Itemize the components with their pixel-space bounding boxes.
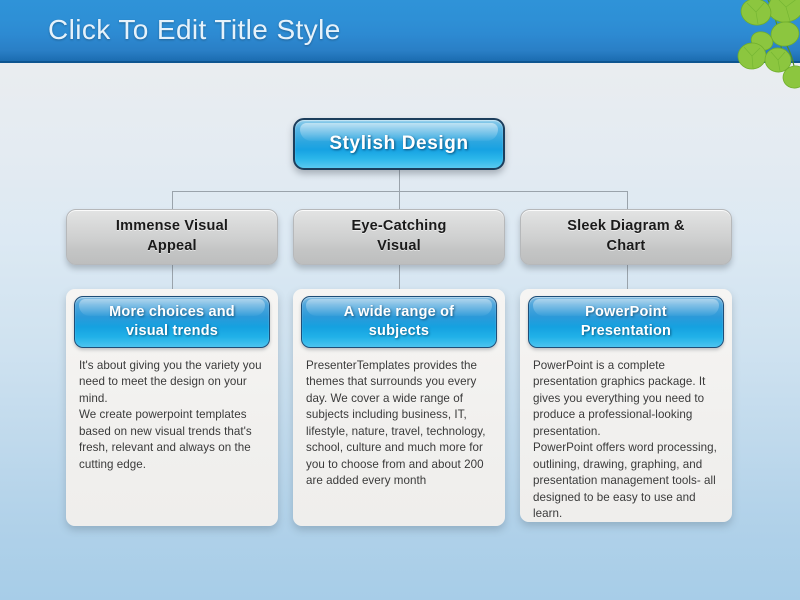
panel-header-powerpoint-presentation[interactable]: PowerPoint Presentation	[528, 296, 724, 348]
branch-label: Eye-Catching Visual	[351, 217, 446, 256]
panel-header-label: A wide range of subjects	[344, 303, 454, 341]
panel-body-text[interactable]: PowerPoint is a complete presentation gr…	[520, 348, 732, 533]
branch-box-immense-visual-appeal[interactable]: Immense Visual Appeal	[66, 209, 278, 265]
slide-title[interactable]: Click To Edit Title Style	[48, 14, 341, 46]
branch-label: Immense Visual Appeal	[116, 217, 228, 256]
connector-horizontal-bus	[172, 191, 628, 192]
content-panel-1: More choices and visual trends It's abou…	[66, 289, 278, 526]
branch-box-eye-catching-visual[interactable]: Eye-Catching Visual	[293, 209, 505, 265]
panel-header-label: PowerPoint Presentation	[581, 303, 671, 341]
panel-header-wide-range[interactable]: A wide range of subjects	[301, 296, 497, 348]
panel-body-text[interactable]: PresenterTemplates provides the themes t…	[293, 348, 505, 500]
content-panel-2: A wide range of subjects PresenterTempla…	[293, 289, 505, 526]
connector-panel-3	[627, 265, 628, 289]
connector-root-down	[399, 170, 400, 191]
connector-branch-2	[399, 191, 400, 209]
branch-box-sleek-diagram-chart[interactable]: Sleek Diagram & Chart	[520, 209, 732, 265]
panel-header-more-choices[interactable]: More choices and visual trends	[74, 296, 270, 348]
panel-header-label: More choices and visual trends	[109, 303, 235, 341]
connector-panel-1	[172, 265, 173, 289]
connector-panel-2	[399, 265, 400, 289]
diagram-root-label: Stylish Design	[329, 133, 468, 155]
slide-title-bar: Click To Edit Title Style	[0, 0, 800, 63]
diagram-root-node[interactable]: Stylish Design	[293, 118, 505, 170]
panel-body-text[interactable]: It's about giving you the variety you ne…	[66, 348, 278, 483]
slide-canvas: Click To Edit Title Style	[0, 0, 800, 600]
connector-branch-3	[627, 191, 628, 209]
content-panel-3: PowerPoint Presentation PowerPoint is a …	[520, 289, 732, 522]
connector-branch-1	[172, 191, 173, 209]
branch-label: Sleek Diagram & Chart	[567, 217, 684, 256]
